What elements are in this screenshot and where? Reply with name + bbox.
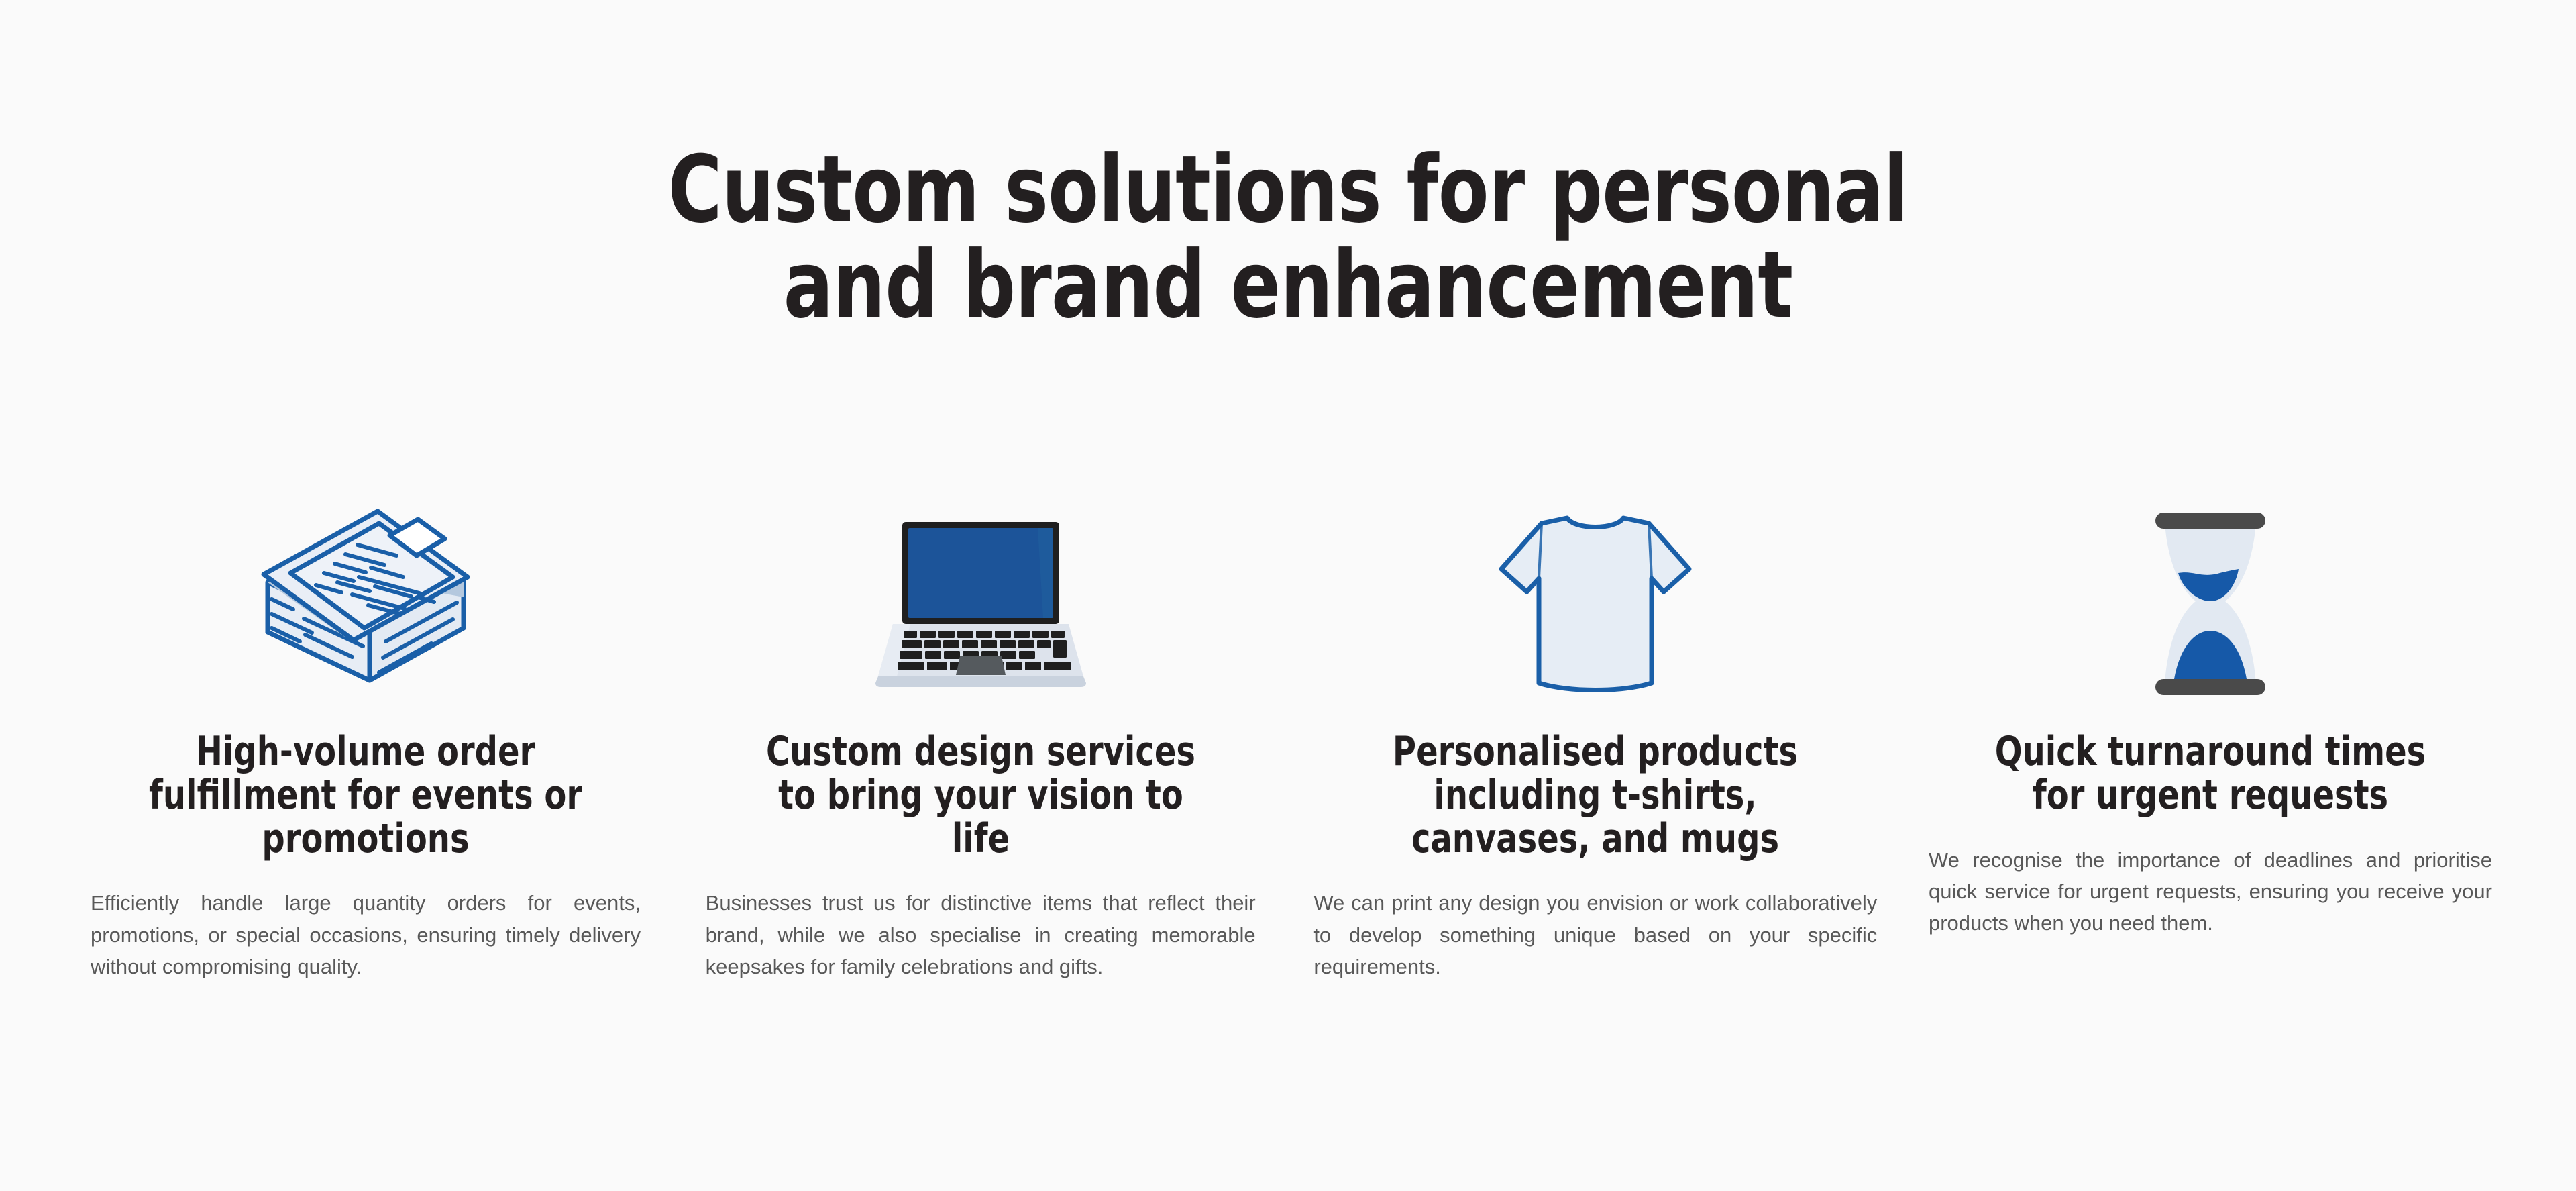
- feature-card-personalised-products: Personalised products including t-shirts…: [1306, 490, 1884, 982]
- feature-card-title: High-volume order fulfillment for events…: [134, 730, 597, 860]
- feature-card-title: Quick turnaround times for urgent reques…: [1979, 730, 2442, 817]
- feature-card-order-fulfillment: High-volume order fulfillment for events…: [76, 490, 655, 982]
- feature-card-title: Custom design services to bring your vis…: [749, 730, 1212, 860]
- feature-card-description: We recognise the importance of deadlines…: [1929, 844, 2492, 939]
- page-title: Custom solutions for personal and brand …: [663, 142, 1913, 333]
- landing-features-section: Custom solutions for personal and brand …: [0, 0, 2576, 1191]
- feature-card-description: Efficiently handle large quantity orders…: [91, 887, 641, 982]
- feature-card-quick-turnaround: Quick turnaround times for urgent reques…: [1921, 490, 2500, 939]
- feature-card-custom-design: Custom design services to bring your vis…: [692, 490, 1270, 982]
- laptop-icon: [692, 490, 1270, 718]
- feature-card-row: High-volume order fulfillment for events…: [76, 490, 2500, 982]
- hourglass-icon: [1921, 490, 2500, 718]
- feature-card-description: We can print any design you envision or …: [1313, 887, 1877, 982]
- paper-stack-icon: [76, 490, 655, 718]
- tshirt-icon: [1306, 490, 1884, 718]
- page-title-container: Custom solutions for personal and brand …: [0, 142, 2576, 333]
- feature-card-description: Businesses trust us for distinctive item…: [706, 887, 1256, 982]
- feature-card-title: Personalised products including t-shirts…: [1364, 730, 1827, 860]
